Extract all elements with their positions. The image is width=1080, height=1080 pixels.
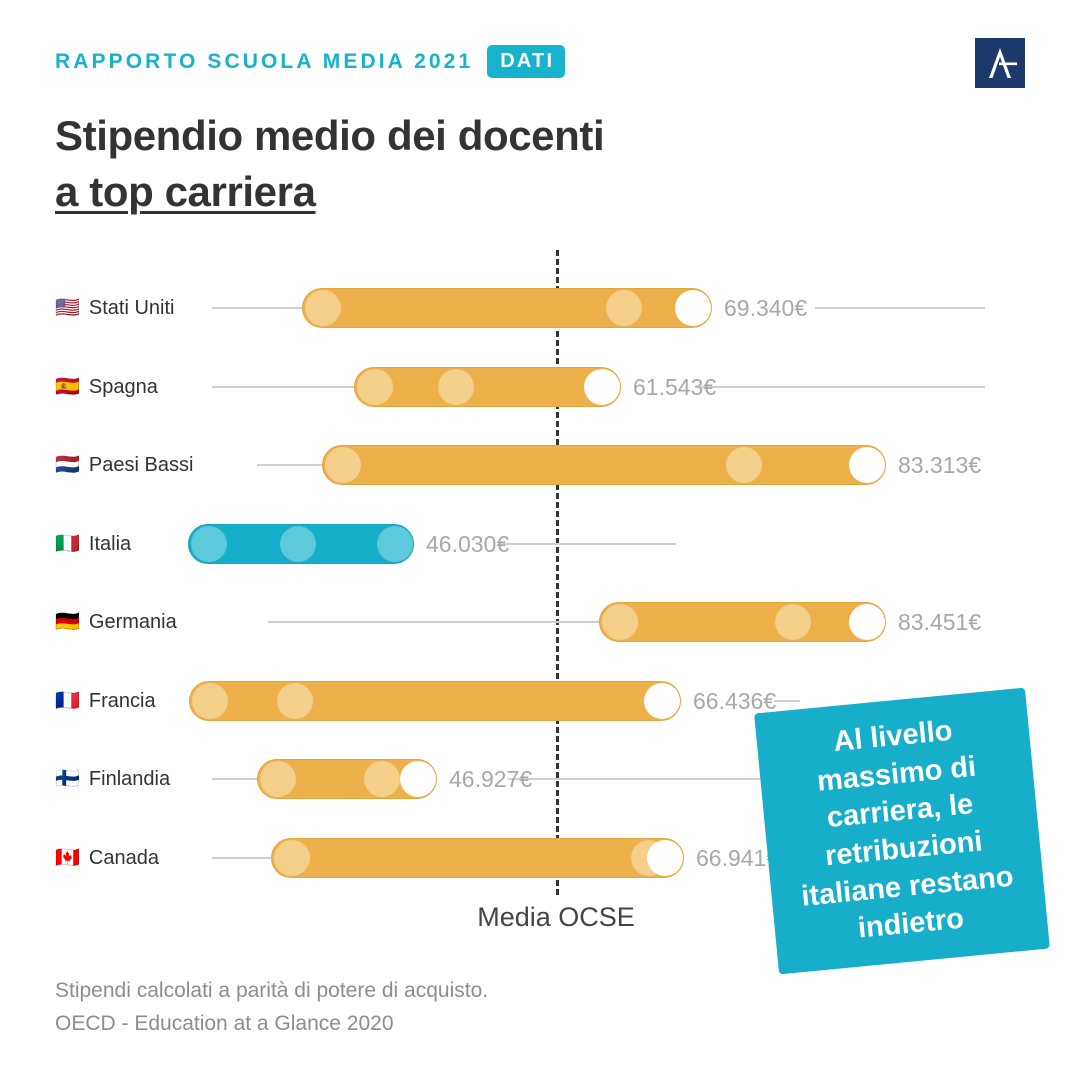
top-career-dot	[584, 369, 620, 405]
chart-row: 🇮🇹Italia46.030€	[0, 516, 1080, 572]
mid-career-dot	[775, 604, 811, 640]
chart-row: 🇪🇸Spagna61.543€	[0, 359, 1080, 415]
mid-career-dot	[726, 447, 762, 483]
value-label: 69.340€	[724, 280, 807, 336]
salary-bar	[599, 602, 886, 642]
country-name: Canada	[89, 847, 159, 870]
footer-line-1: Stipendi calcolati a parità di potere di…	[55, 975, 488, 1008]
value-label: 83.313€	[898, 437, 981, 493]
flag-icon: 🇳🇱	[55, 455, 80, 475]
salary-bar	[188, 524, 414, 564]
salary-bar	[302, 288, 712, 328]
country-label-finlandia: 🇫🇮Finlandia	[55, 751, 170, 807]
salary-bar	[354, 367, 621, 407]
chart-row: 🇩🇪Germania83.451€	[0, 594, 1080, 650]
flag-icon: 🇫🇮	[55, 769, 80, 789]
salary-bar	[257, 759, 437, 799]
callout-box: Al livello massimo di carriera, le retri…	[754, 688, 1050, 975]
country-label-paesi-bassi: 🇳🇱Paesi Bassi	[55, 437, 193, 493]
guide-line	[212, 386, 354, 388]
start-salary-dot	[305, 290, 341, 326]
top-career-dot	[849, 447, 885, 483]
flag-icon: 🇺🇸	[55, 298, 80, 318]
top-career-dot	[647, 840, 683, 876]
page-title: Stipendio medio dei docenti a top carrie…	[55, 108, 755, 220]
country-label-spagna: 🇪🇸Spagna	[55, 359, 158, 415]
guide-line	[500, 543, 676, 545]
kicker-label: RAPPORTO SCUOLA MEDIA 2021	[55, 50, 473, 74]
guide-line	[212, 307, 302, 309]
mid-career-dot	[280, 526, 316, 562]
salary-bar	[271, 838, 684, 878]
start-salary-dot	[191, 526, 227, 562]
country-name: Finlandia	[89, 768, 170, 791]
guide-line	[774, 700, 800, 702]
salary-bar	[322, 445, 886, 485]
mid-career-dot	[606, 290, 642, 326]
country-name: Stati Uniti	[89, 297, 175, 320]
value-label: 46.030€	[426, 516, 509, 572]
value-label: 61.543€	[633, 359, 716, 415]
flag-icon: 🇪🇸	[55, 377, 80, 397]
mid-career-dot	[277, 683, 313, 719]
media-ocse-label: Media OCSE	[477, 902, 635, 933]
title-line-2: a top carriera	[55, 164, 755, 220]
header-kicker-bar: RAPPORTO SCUOLA MEDIA 2021 DATI	[55, 45, 565, 78]
country-label-stati-uniti: 🇺🇸Stati Uniti	[55, 280, 175, 336]
country-label-italia: 🇮🇹Italia	[55, 516, 131, 572]
flag-icon: 🇮🇹	[55, 534, 80, 554]
chart-row: 🇳🇱Paesi Bassi83.313€	[0, 437, 1080, 493]
mid-career-dot	[364, 761, 400, 797]
country-label-canada: 🇨🇦Canada	[55, 830, 159, 886]
flag-icon: 🇩🇪	[55, 612, 80, 632]
callout-text: Al livello massimo di carriera, le retri…	[770, 707, 1035, 955]
country-name: Italia	[89, 533, 131, 556]
guide-line	[815, 307, 985, 309]
value-label: 83.451€	[898, 594, 981, 650]
top-career-dot	[400, 761, 436, 797]
guide-line	[268, 621, 599, 623]
chart-row: 🇺🇸Stati Uniti69.340€	[0, 280, 1080, 336]
top-career-dot	[644, 683, 680, 719]
top-career-dot	[377, 526, 413, 562]
country-name: Paesi Bassi	[89, 454, 194, 477]
country-name: Germania	[89, 611, 177, 634]
top-career-dot	[849, 604, 885, 640]
start-salary-dot	[260, 761, 296, 797]
dati-badge: DATI	[487, 45, 565, 78]
salary-bar	[189, 681, 681, 721]
flag-icon: 🇨🇦	[55, 848, 80, 868]
footer-note: Stipendi calcolati a parità di potere di…	[55, 975, 488, 1040]
start-salary-dot	[192, 683, 228, 719]
top-career-dot	[675, 290, 711, 326]
flag-icon: 🇫🇷	[55, 691, 80, 711]
guide-line	[212, 857, 271, 859]
country-label-francia: 🇫🇷Francia	[55, 673, 156, 729]
footer-line-2: OECD - Education at a Glance 2020	[55, 1008, 488, 1041]
start-salary-dot	[357, 369, 393, 405]
guide-line	[257, 464, 322, 466]
country-name: Francia	[89, 690, 156, 713]
country-name: Spagna	[89, 376, 158, 399]
agi-logo	[975, 38, 1025, 88]
title-line-1: Stipendio medio dei docenti	[55, 108, 755, 164]
mid-career-dot	[438, 369, 474, 405]
value-label: 46.927€	[449, 751, 532, 807]
country-label-germania: 🇩🇪Germania	[55, 594, 177, 650]
guide-line	[212, 778, 257, 780]
start-salary-dot	[325, 447, 361, 483]
guide-line	[700, 386, 985, 388]
start-salary-dot	[274, 840, 310, 876]
start-salary-dot	[602, 604, 638, 640]
